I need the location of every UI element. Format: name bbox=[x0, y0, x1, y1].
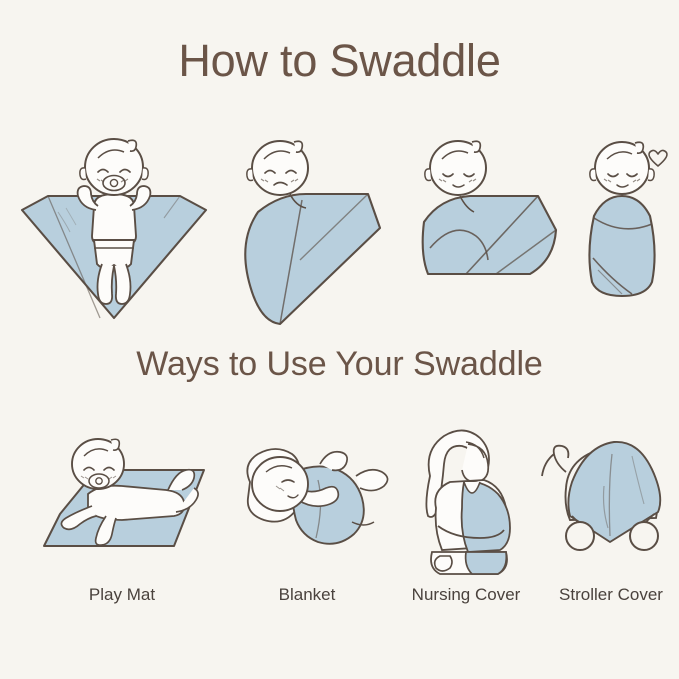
use-blanket bbox=[232, 424, 392, 584]
swaddle-step-1 bbox=[14, 132, 214, 328]
stroller-cover-icon bbox=[540, 424, 670, 584]
section-title: Ways to Use Your Swaddle bbox=[0, 344, 679, 384]
use-stroller-cover bbox=[540, 424, 670, 584]
use-labels-row: Play Mat Blanket Nursing Cover Stroller … bbox=[0, 583, 679, 609]
swaddle-step-4 bbox=[578, 132, 670, 328]
blanket-icon bbox=[232, 424, 392, 584]
nursing-cover-icon bbox=[406, 424, 526, 584]
swaddle-steps-row bbox=[0, 132, 679, 328]
swaddle-step-3 bbox=[410, 132, 562, 328]
use-nursing-cover bbox=[406, 424, 526, 584]
use-label-play-mat: Play Mat bbox=[42, 583, 202, 607]
heart-icon bbox=[649, 150, 667, 166]
swaddle-step-2-icon bbox=[228, 132, 388, 328]
use-play-mat bbox=[26, 424, 216, 584]
swaddle-step-4-icon bbox=[578, 132, 670, 328]
use-label-blanket: Blanket bbox=[232, 583, 382, 607]
swaddle-step-2 bbox=[228, 132, 388, 328]
page-title: How to Swaddle bbox=[0, 36, 679, 86]
use-label-stroller-cover: Stroller Cover bbox=[536, 583, 679, 607]
play-mat-icon bbox=[26, 424, 216, 584]
use-label-nursing-cover: Nursing Cover bbox=[396, 583, 536, 607]
swaddle-step-3-icon bbox=[410, 132, 562, 328]
swaddle-infographic: How to Swaddle bbox=[0, 0, 679, 679]
swaddle-step-1-icon bbox=[14, 132, 214, 328]
